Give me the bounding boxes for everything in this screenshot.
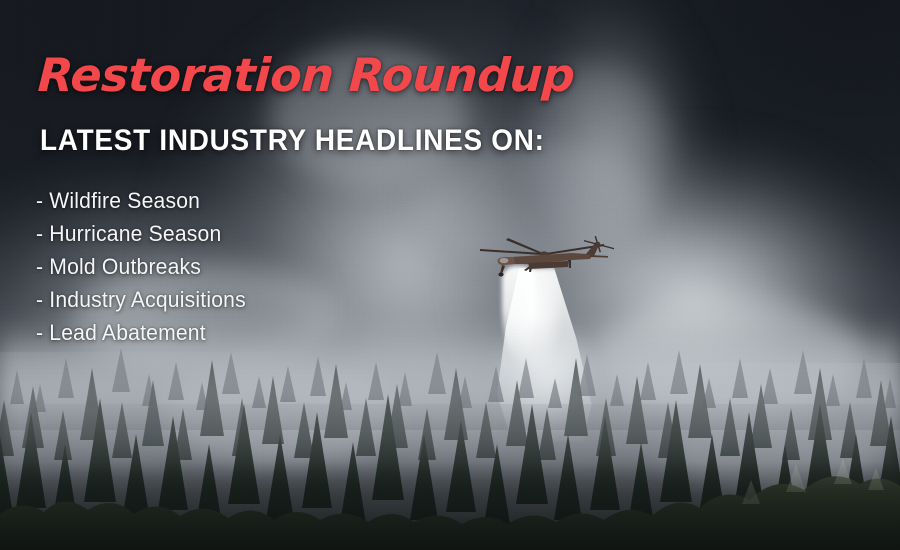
page-title: Restoration Roundup: [37, 48, 576, 102]
list-item: - Wildfire Season: [36, 184, 246, 217]
list-item: - Mold Outbreaks: [36, 250, 246, 283]
poster-text-content: Restoration Roundup LATEST INDUSTRY HEAD…: [0, 0, 900, 550]
list-item: - Hurricane Season: [36, 217, 246, 250]
list-item: - Lead Abatement: [36, 316, 246, 349]
subtitle-heading: LATEST INDUSTRY HEADLINES ON:: [40, 124, 545, 158]
restoration-roundup-poster: Restoration Roundup LATEST INDUSTRY HEAD…: [0, 0, 900, 550]
list-item: - Industry Acquisitions: [36, 283, 246, 316]
topics-list: - Wildfire Season - Hurricane Season - M…: [36, 184, 255, 349]
